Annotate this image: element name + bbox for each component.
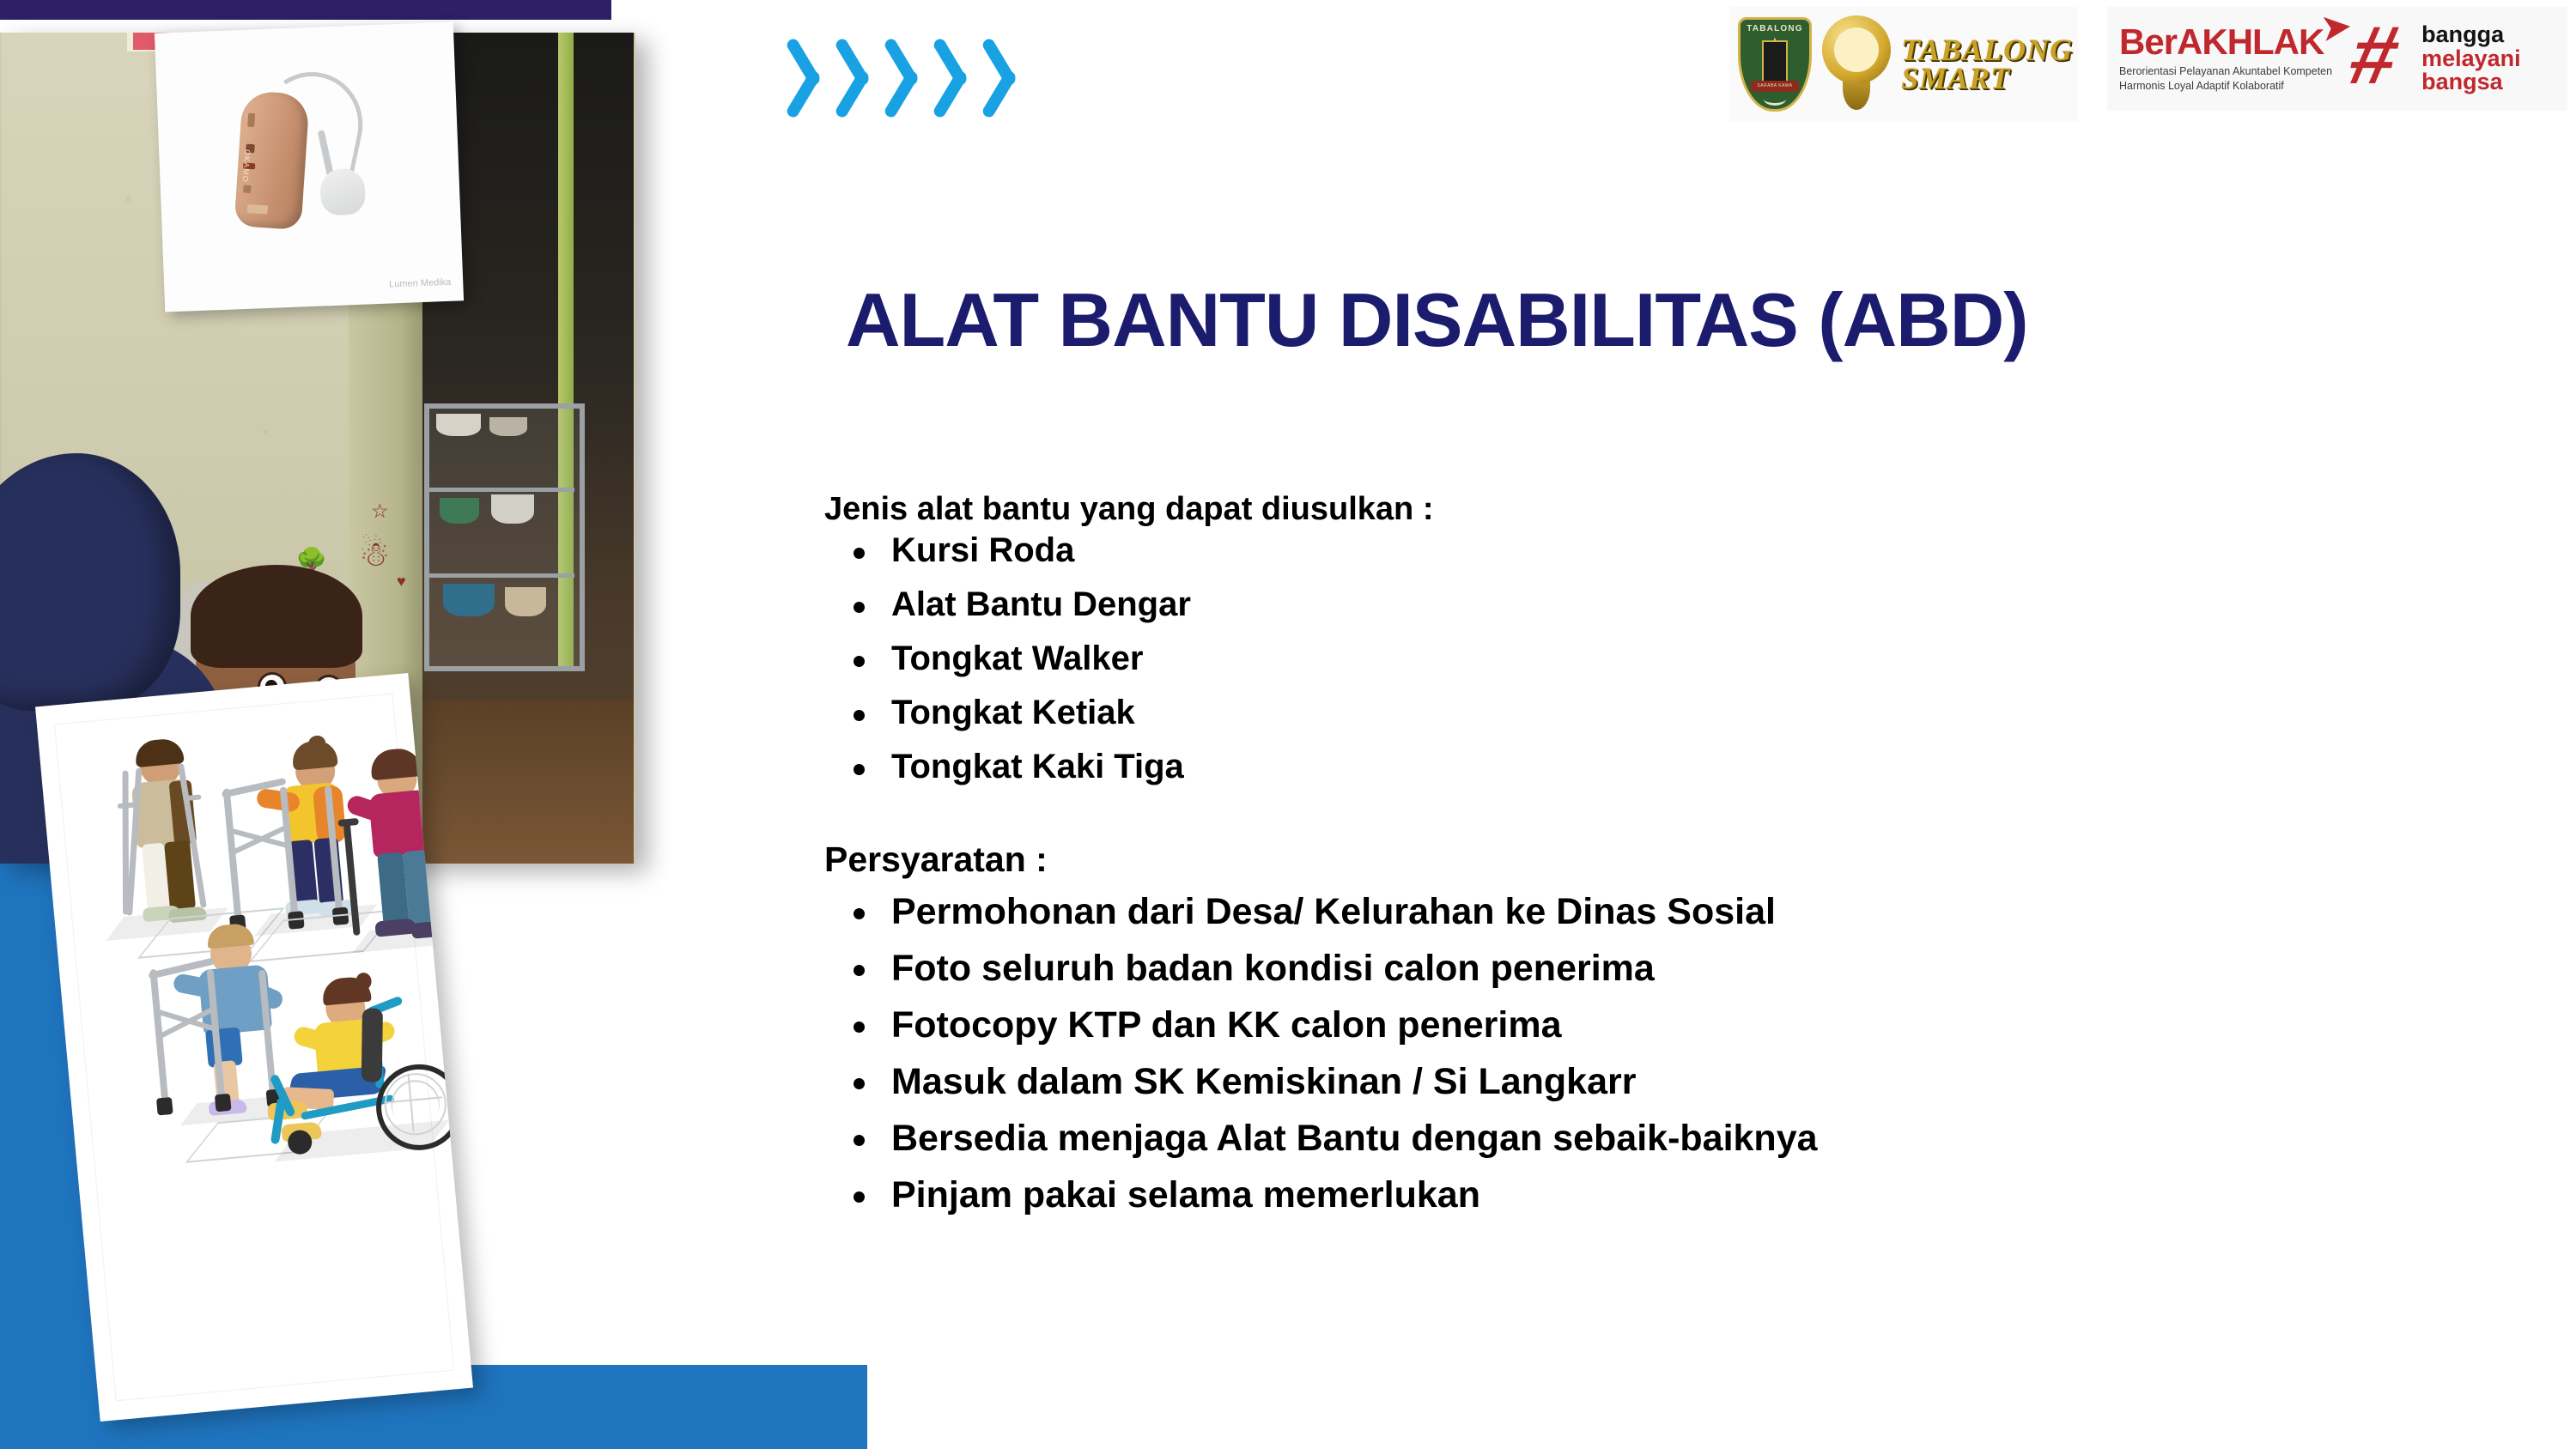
tabalong-smart-line2: SMART	[1901, 64, 2073, 93]
berakhlak-logo: BerAKHLAK ➤ Berorientasi Pelayanan Akunt…	[2107, 7, 2567, 111]
tabalong-smart-logo: TABALONG ★ SARABA KAWA TABALONG SMART	[1729, 7, 2078, 122]
list-item: Fotocopy KTP dan KK calon penerima	[824, 1007, 2456, 1044]
hearing-aid-card: OKAMO Lumen Medika	[155, 21, 464, 312]
bangga-line-2: melayani	[2421, 47, 2521, 71]
berakhlak-subtitle: Berorientasi Pelayanan Akuntabel Kompete…	[2119, 64, 2332, 94]
list-item: Tongkat Ketiak	[824, 695, 2456, 730]
bangga-line-1: bangga	[2421, 23, 2521, 47]
list-item: Tongkat Walker	[824, 641, 2456, 676]
berakhlak-wordmark: BerAKHLAK ➤	[2119, 24, 2332, 60]
section-spacer	[824, 803, 2456, 840]
list-item: Tongkat Kaki Tiga	[824, 749, 2456, 784]
berakhlak-subtitle-line2: Harmonis Loyal Adaptif Kolaboratif	[2119, 79, 2332, 94]
berakhlak-wordmark-text: BerAKHLAK	[2119, 21, 2324, 62]
tabalong-crest-swoosh	[1764, 93, 1786, 106]
berakhlak-swoosh-icon: ➤	[2320, 9, 2352, 46]
slide-body: Jenis alat bantu yang dapat diusulkan : …	[824, 491, 2456, 1234]
bangga-wordmark: bangga melayani bangsa	[2421, 23, 2521, 94]
berakhlak-left: BerAKHLAK ➤ Berorientasi Pelayanan Akunt…	[2119, 24, 2332, 94]
list-item: Kursi Roda	[824, 533, 2456, 567]
list-item: Alat Bantu Dengar	[824, 587, 2456, 621]
bangga-melayani-bangsa-logo: # bangga melayani bangsa	[2351, 23, 2521, 94]
tabalong-smart-wordmark: TABALONG SMART	[1901, 36, 2073, 93]
hearing-aid-watermark: Lumen Medika	[389, 277, 452, 290]
section-1-lead: Jenis alat bantu yang dapat diusulkan :	[824, 491, 2456, 528]
mobility-illustration-inner	[54, 694, 454, 1402]
tabalong-crest-ribbon: SARABA KAWA	[1751, 81, 1799, 92]
list-item: Bersedia menjaga Alat Bantu dengan sebai…	[824, 1120, 2456, 1157]
section-1-list: Kursi Roda Alat Bantu Dengar Tongkat Wal…	[824, 533, 2456, 784]
photo-floor-dark	[400, 700, 634, 864]
tabalong-crest-icon: TABALONG ★ SARABA KAWA	[1738, 17, 1812, 112]
tabalong-pin-icon	[1817, 14, 1896, 115]
list-item: Foto seluruh badan kondisi calon penerim…	[824, 950, 2456, 987]
mobility-illustration-card	[35, 673, 473, 1422]
section-2-list: Permohonan dari Desa/ Kelurahan ke Dinas…	[824, 894, 2456, 1214]
photo-kitchen-rack	[424, 403, 585, 671]
hashtag-icon: #	[2344, 27, 2421, 90]
photo-child-hair	[191, 565, 362, 668]
logo-row: TABALONG ★ SARABA KAWA TABALONG SMART Be…	[1729, 7, 2567, 122]
chevron-group	[805, 33, 1209, 124]
chevron-right-icon-5	[1001, 33, 1046, 124]
photo-doodle-heart: ♥	[397, 573, 406, 589]
list-item: Masuk dalam SK Kemiskinan / Si Langkarr	[824, 1064, 2456, 1100]
top-navy-bar	[0, 0, 611, 20]
list-item: Permohonan dari Desa/ Kelurahan ke Dinas…	[824, 894, 2456, 931]
figure-wheelchair-user	[263, 966, 459, 1170]
photo-doodle-figures: ☃	[359, 537, 390, 572]
bangga-line-3: bangsa	[2421, 70, 2521, 94]
tabalong-crest-label: TABALONG	[1741, 24, 1809, 33]
list-item: Pinjam pakai selama memerlukan	[824, 1177, 2456, 1214]
berakhlak-subtitle-line1: Berorientasi Pelayanan Akuntabel Kompete…	[2119, 64, 2332, 79]
photo-woman-hijab	[0, 453, 180, 711]
photo-doodle-family: ☆	[371, 501, 389, 521]
slide-canvas: ☆ ☃ 🌳 ♥ OKAMO Lumen Medika	[0, 0, 2576, 1449]
section-2-lead: Persyaratan :	[824, 840, 2456, 880]
hearing-aid-ear-dome	[319, 168, 366, 216]
page-title: ALAT BANTU DISABILITAS (ABD)	[846, 276, 2555, 364]
